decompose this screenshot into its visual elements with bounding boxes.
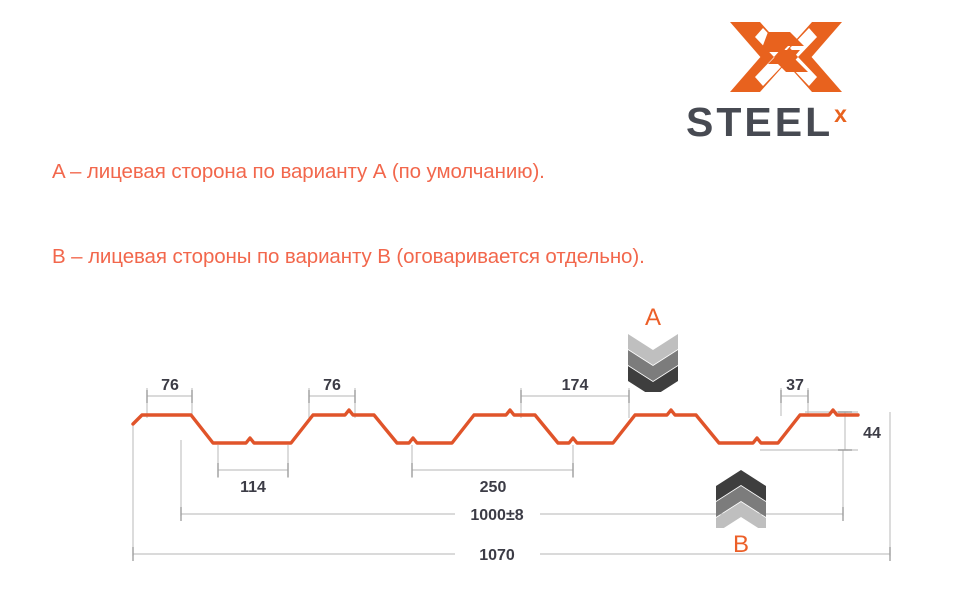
dim-label-114: 114 bbox=[240, 479, 266, 496]
marker-b-label: B bbox=[710, 533, 772, 557]
profile-technical-drawing: 76 76 174 37 114 250 44 1000±8 1070 bbox=[0, 0, 970, 597]
dim-label-76-mid: 76 bbox=[323, 377, 341, 394]
dim-label-1070: 1070 bbox=[479, 547, 515, 564]
dim-label-37: 37 bbox=[786, 377, 804, 394]
marker-a-chevrons-down-icon bbox=[622, 330, 684, 392]
profile-polyline bbox=[133, 410, 858, 443]
dimension-ticks bbox=[133, 390, 890, 561]
marker-a: A bbox=[622, 306, 684, 397]
marker-b-chevrons-up-icon bbox=[710, 466, 772, 528]
marker-a-label: A bbox=[622, 306, 684, 330]
dim-label-44: 44 bbox=[863, 425, 881, 442]
dim-label-250: 250 bbox=[480, 479, 507, 496]
page-root: STEEL x A – лицевая сторона по варианту … bbox=[0, 0, 970, 597]
dim-label-174: 174 bbox=[562, 377, 589, 394]
dim-label-76-left: 76 bbox=[161, 377, 179, 394]
dim-label-1000: 1000±8 bbox=[470, 507, 523, 524]
marker-b: B bbox=[710, 466, 772, 557]
